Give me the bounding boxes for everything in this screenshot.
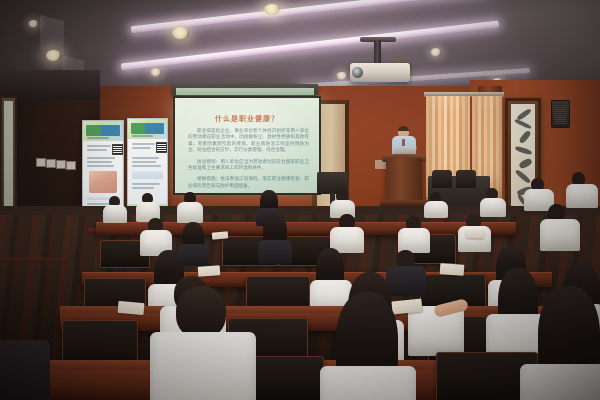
banner-photo xyxy=(89,171,117,193)
attendee-torso xyxy=(540,219,580,251)
slide-paragraph: 职业病是指企业、事业单位和个体经济组织等用人单位的劳动者在职业活动中，因接触粉尘… xyxy=(188,128,309,154)
head-table-chair xyxy=(432,170,452,188)
projection-screen: 什么是职业健康？ 职业病是指企业、事业单位和个体经济组织等用人单位的劳动者在职业… xyxy=(173,96,321,195)
attendee-torso xyxy=(150,332,256,400)
attendee-torso xyxy=(258,240,292,264)
conference-room-photo: 什么是职业健康？ 职业病是指企业、事业单位和个体经济组织等用人单位的劳动者在职业… xyxy=(0,0,600,400)
attendee-torso xyxy=(566,184,598,208)
qr-code xyxy=(112,144,123,155)
light-switch-panel[interactable] xyxy=(46,159,56,168)
handout-paper xyxy=(440,263,465,276)
handout-paper xyxy=(198,265,221,277)
handout-paper xyxy=(212,231,229,239)
recessed-downlight xyxy=(46,50,61,61)
attendee-torso xyxy=(480,198,506,217)
recessed-downlight xyxy=(336,72,348,80)
banner-subline xyxy=(132,135,153,137)
wall-mounted-speaker xyxy=(551,100,570,128)
banner-headline xyxy=(86,125,120,136)
wooden-lectern xyxy=(386,158,422,204)
banner-subline xyxy=(87,137,109,139)
handout-paper xyxy=(466,230,484,239)
attendee-torso xyxy=(0,340,50,400)
recessed-downlight xyxy=(172,27,189,39)
attendee-torso xyxy=(520,364,600,400)
slide-title: 什么是职业健康？ xyxy=(175,114,319,124)
recessed-downlight xyxy=(150,68,162,77)
air-vent-grille xyxy=(40,15,64,55)
attendee-torso xyxy=(103,205,127,223)
light-switch-panel[interactable] xyxy=(56,160,66,169)
banner-headline xyxy=(131,123,164,134)
slide-body: 职业病是指企业、事业单位和个体经济组织等用人单位的劳动者在职业活动中，因接触粉尘… xyxy=(188,128,309,194)
banner-header xyxy=(128,119,167,139)
attendee-torso xyxy=(320,366,416,400)
screen-top-strip xyxy=(176,88,314,95)
speaker-mesh xyxy=(554,104,567,124)
recessed-downlight xyxy=(28,20,39,28)
attendee-torso xyxy=(177,202,203,223)
recessed-downlight xyxy=(264,4,280,15)
recessed-downlight xyxy=(430,48,442,57)
attendee-torso xyxy=(386,266,426,296)
attendee-torso xyxy=(424,201,448,218)
qr-code xyxy=(156,142,167,153)
light-switch-panel[interactable] xyxy=(36,158,46,167)
head-table-chair xyxy=(456,170,476,188)
projector-lens-icon xyxy=(352,67,363,78)
slide-paragraph: 防治原则：用人单位应当为劳动者创造符合国家职业卫生标准和卫生要求的工作环境和条件… xyxy=(188,159,309,172)
attendee-head xyxy=(176,286,226,338)
slide-paragraph: 保障措施：依法参加工伤保险，落实职业健康检查、职业病危害告知与防护用品配备。 xyxy=(188,176,309,189)
handout-paper xyxy=(118,301,145,315)
banner-header xyxy=(83,121,123,141)
light-switch-panel[interactable] xyxy=(66,161,76,170)
